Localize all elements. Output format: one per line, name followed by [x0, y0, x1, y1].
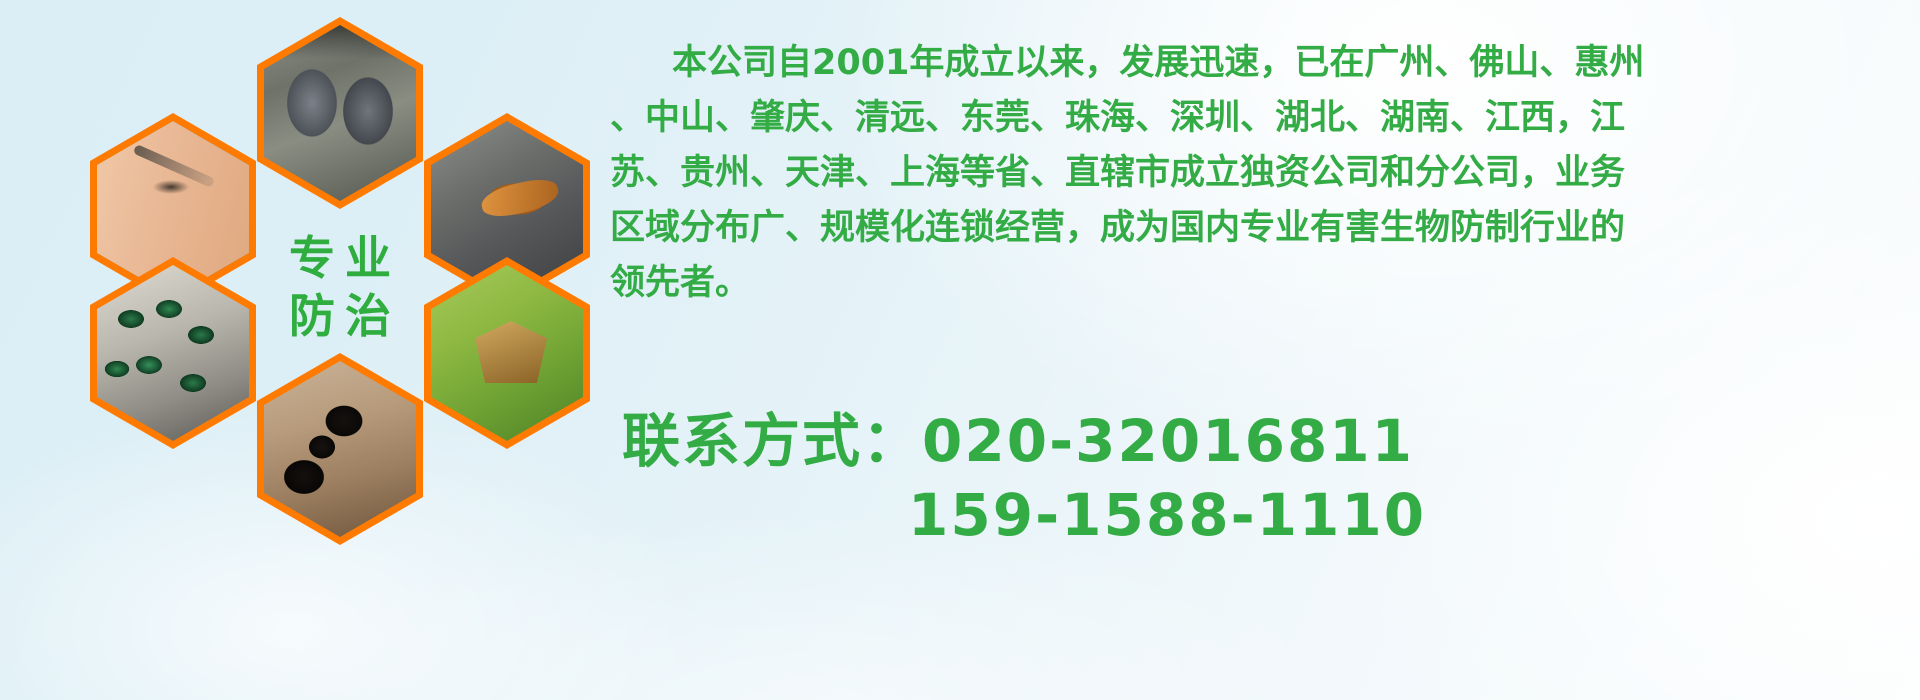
flies-photo — [97, 265, 249, 441]
ant-photo — [264, 361, 416, 537]
description-line-1: 本公司自2001年成立以来，发展迅速，已在广州、佛山、惠州 — [610, 36, 1900, 91]
hex-cell-flies[interactable] — [90, 257, 256, 449]
stinkbug-photo — [431, 265, 583, 441]
honeycomb-center-label: 专业 防治 — [257, 191, 423, 383]
hex-cell-rats[interactable] — [257, 17, 423, 209]
contact-line-primary: 联系方式：020-32016811 — [622, 404, 1912, 478]
contact-block: 联系方式：020-32016811 159-1588-1110 — [622, 404, 1912, 552]
honeycomb-collage: 专业 防治 — [90, 8, 590, 568]
hex-cell-stinkbug[interactable] — [424, 257, 590, 449]
contact-label: 联系方式： — [622, 407, 922, 475]
description-line-4: 区域分布广、规模化连锁经营，成为国内专业有害生物防制行业的 — [610, 201, 1900, 256]
rats-photo — [264, 25, 416, 201]
phone-secondary[interactable]: 159-1588-1110 — [622, 478, 1912, 552]
honeycomb-label-line2: 防治 — [279, 293, 401, 339]
description-line-3: 苏、贵州、天津、上海等省、直辖市成立独资公司和分公司，业务 — [610, 146, 1900, 201]
description-line-2: 、中山、肇庆、清远、东莞、珠海、深圳、湖北、湖南、江西，江 — [610, 91, 1900, 146]
description-line-5: 领先者。 — [610, 256, 1900, 311]
honeycomb-label-line1: 专业 — [279, 235, 401, 281]
description-text-1: 本公司自2001年成立以来，发展迅速，已在广州、佛山、惠州 — [672, 43, 1644, 83]
company-description: 本公司自2001年成立以来，发展迅速，已在广州、佛山、惠州 、中山、肇庆、清远、… — [610, 36, 1900, 311]
phone-primary[interactable]: 020-32016811 — [922, 407, 1414, 475]
banner-stage: 专业 防治 本公司自2001年成立以来，发展迅速，已在广州、佛山、惠州 、中山、… — [0, 0, 1920, 700]
